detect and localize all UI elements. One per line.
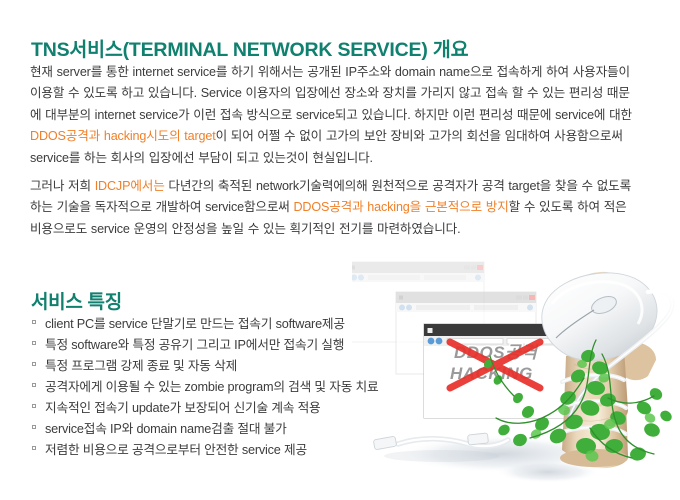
feature-list-item-label: client PC를 service 단말기로 만드는 접속기 software… bbox=[45, 317, 345, 331]
features-list: client PC를 service 단말기로 만드는 접속기 software… bbox=[31, 314, 378, 461]
feature-list-item-label: 특정 software와 특정 공유기 그리고 IP에서만 접속기 실행 bbox=[45, 338, 344, 352]
body-text: service를 하는 회사의 입장에선 부담이 되고 있는것이 현실입니다. bbox=[30, 151, 373, 165]
paragraph-line: service를 하는 회사의 입장에선 부담이 되고 있는것이 현실입니다. bbox=[30, 148, 666, 169]
feature-list-item: service접속 IP와 domain name검출 절대 불가 bbox=[31, 419, 378, 440]
highlighted-text: IDCJP에서는 bbox=[95, 179, 165, 193]
feature-list-item-label: service접속 IP와 domain name검출 절대 불가 bbox=[45, 422, 287, 436]
content-layer: TNS서비스(TERMINAL NETWORK SERVICE) 개요 현재 s… bbox=[0, 0, 680, 500]
body-text: 할 수 있도록 하여 적은 bbox=[509, 200, 627, 214]
body-text: 이용할 수 있도록 하고 있습니다. Service 이용자의 입장에선 장소와… bbox=[30, 86, 630, 100]
paragraph-intro: 현재 server를 통한 internet service를 하기 위해서는 … bbox=[30, 62, 666, 169]
body-text: 비용으로도 service 운영의 안정성을 높일 수 있는 획기적인 전기를 … bbox=[30, 222, 460, 236]
paragraph-line: 이용할 수 있도록 하고 있습니다. Service 이용자의 입장에선 장소와… bbox=[30, 83, 666, 104]
feature-list-item-label: 지속적인 접속기 update가 보장되어 신기술 계속 적용 bbox=[45, 401, 321, 415]
section-title-features: 서비스 특징 bbox=[31, 287, 122, 314]
body-text: 현재 server를 통한 internet service를 하기 위해서는 … bbox=[30, 65, 630, 79]
feature-list-item-label: 저렴한 비용으로 공격으로부터 안전한 service 제공 bbox=[45, 443, 307, 457]
paragraph-line: 그러나 저희 IDCJP에서는 다년간의 축적된 network기술력에의해 원… bbox=[30, 176, 666, 197]
feature-list-item: client PC를 service 단말기로 만드는 접속기 software… bbox=[31, 314, 378, 335]
feature-list-item: 공격자에게 이용될 수 있는 zombie program의 검색 및 자동 치… bbox=[31, 377, 378, 398]
feature-list-item: 저렴한 비용으로 공격으로부터 안전한 service 제공 bbox=[31, 440, 378, 461]
paragraph-line: 하는 기술을 독자적으로 개발하여 service함으로써 DDOS공격과 ha… bbox=[30, 197, 666, 218]
square-bullet-icon bbox=[32, 425, 36, 429]
body-text: 이 되어 어쩔 수 없이 고가의 보안 장비와 고가의 회선을 임대하여 사용함… bbox=[216, 129, 623, 143]
square-bullet-icon bbox=[32, 383, 36, 387]
slide-page: DDOS공격 HACKING bbox=[0, 0, 680, 500]
square-bullet-icon bbox=[32, 341, 36, 345]
paragraph-solution: 그러나 저희 IDCJP에서는 다년간의 축적된 network기술력에의해 원… bbox=[30, 176, 666, 240]
paragraph-line: DDOS공격과 hacking시도의 target이 되어 어쩔 수 없이 고가… bbox=[30, 126, 666, 147]
highlighted-text: DDOS공격과 hacking시도의 target bbox=[30, 129, 216, 143]
square-bullet-icon bbox=[32, 446, 36, 450]
body-text: 그러나 저희 bbox=[30, 179, 95, 193]
feature-list-item: 특정 software와 특정 공유기 그리고 IP에서만 접속기 실행 bbox=[31, 335, 378, 356]
square-bullet-icon bbox=[32, 404, 36, 408]
feature-list-item-label: 공격자에게 이용될 수 있는 zombie program의 검색 및 자동 치… bbox=[45, 380, 378, 394]
paragraph-line: 현재 server를 통한 internet service를 하기 위해서는 … bbox=[30, 62, 666, 83]
paragraph-line: 에 대부분의 internet service가 이런 접속 방식으로 serv… bbox=[30, 105, 666, 126]
feature-list-item: 지속적인 접속기 update가 보장되어 신기술 계속 적용 bbox=[31, 398, 378, 419]
highlighted-text: DDOS공격과 hacking을 근본적으로 방지 bbox=[293, 200, 508, 214]
square-bullet-icon bbox=[32, 362, 36, 366]
page-title: TNS서비스(TERMINAL NETWORK SERVICE) 개요 bbox=[31, 33, 468, 62]
body-text: 하는 기술을 독자적으로 개발하여 service함으로써 bbox=[30, 200, 293, 214]
feature-list-item-label: 특정 프로그램 강제 종료 및 자동 삭제 bbox=[45, 359, 237, 373]
square-bullet-icon bbox=[32, 320, 36, 324]
body-text: 다년간의 축적된 network기술력에의해 원천적으로 공격자가 공격 tar… bbox=[165, 179, 631, 193]
feature-list-item: 특정 프로그램 강제 종료 및 자동 삭제 bbox=[31, 356, 378, 377]
body-text: 에 대부분의 internet service가 이런 접속 방식으로 serv… bbox=[30, 108, 632, 122]
paragraph-line: 비용으로도 service 운영의 안정성을 높일 수 있는 획기적인 전기를 … bbox=[30, 219, 666, 240]
